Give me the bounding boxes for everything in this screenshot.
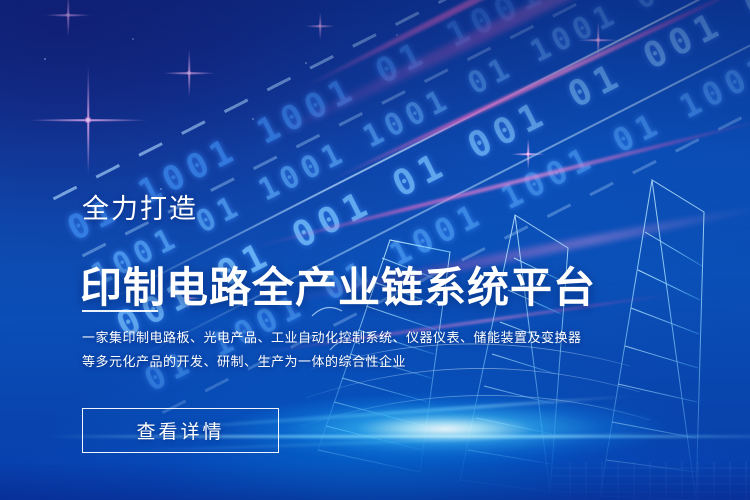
view-details-button[interactable]: 查看详情 bbox=[82, 408, 279, 453]
description-line-1: 一家集印制电路板、光电产品、工业自动化控制系统、仪器仪表、储能装置及变换器 bbox=[82, 326, 552, 350]
star-dot bbox=[44, 58, 46, 60]
title-divider bbox=[82, 310, 158, 312]
description-line-2: 等多元化产品的开发、研制、生产为一体的综合性企业 bbox=[82, 350, 552, 374]
banner-content: 全力打造 印制电路全产业链系统平台 一家集印制电路板、光电产品、工业自动化控制系… bbox=[82, 0, 602, 500]
eyebrow-text: 全力打造 bbox=[82, 196, 198, 223]
description-text: 一家集印制电路板、光电产品、工业自动化控制系统、仪器仪表、储能装置及变换器 等多… bbox=[82, 326, 552, 374]
page-title: 印制电路全产业链系统平台 bbox=[80, 267, 596, 309]
hero-banner: 01 1001 1001 01 1001 01 1001 1001 01 100… bbox=[0, 0, 750, 500]
